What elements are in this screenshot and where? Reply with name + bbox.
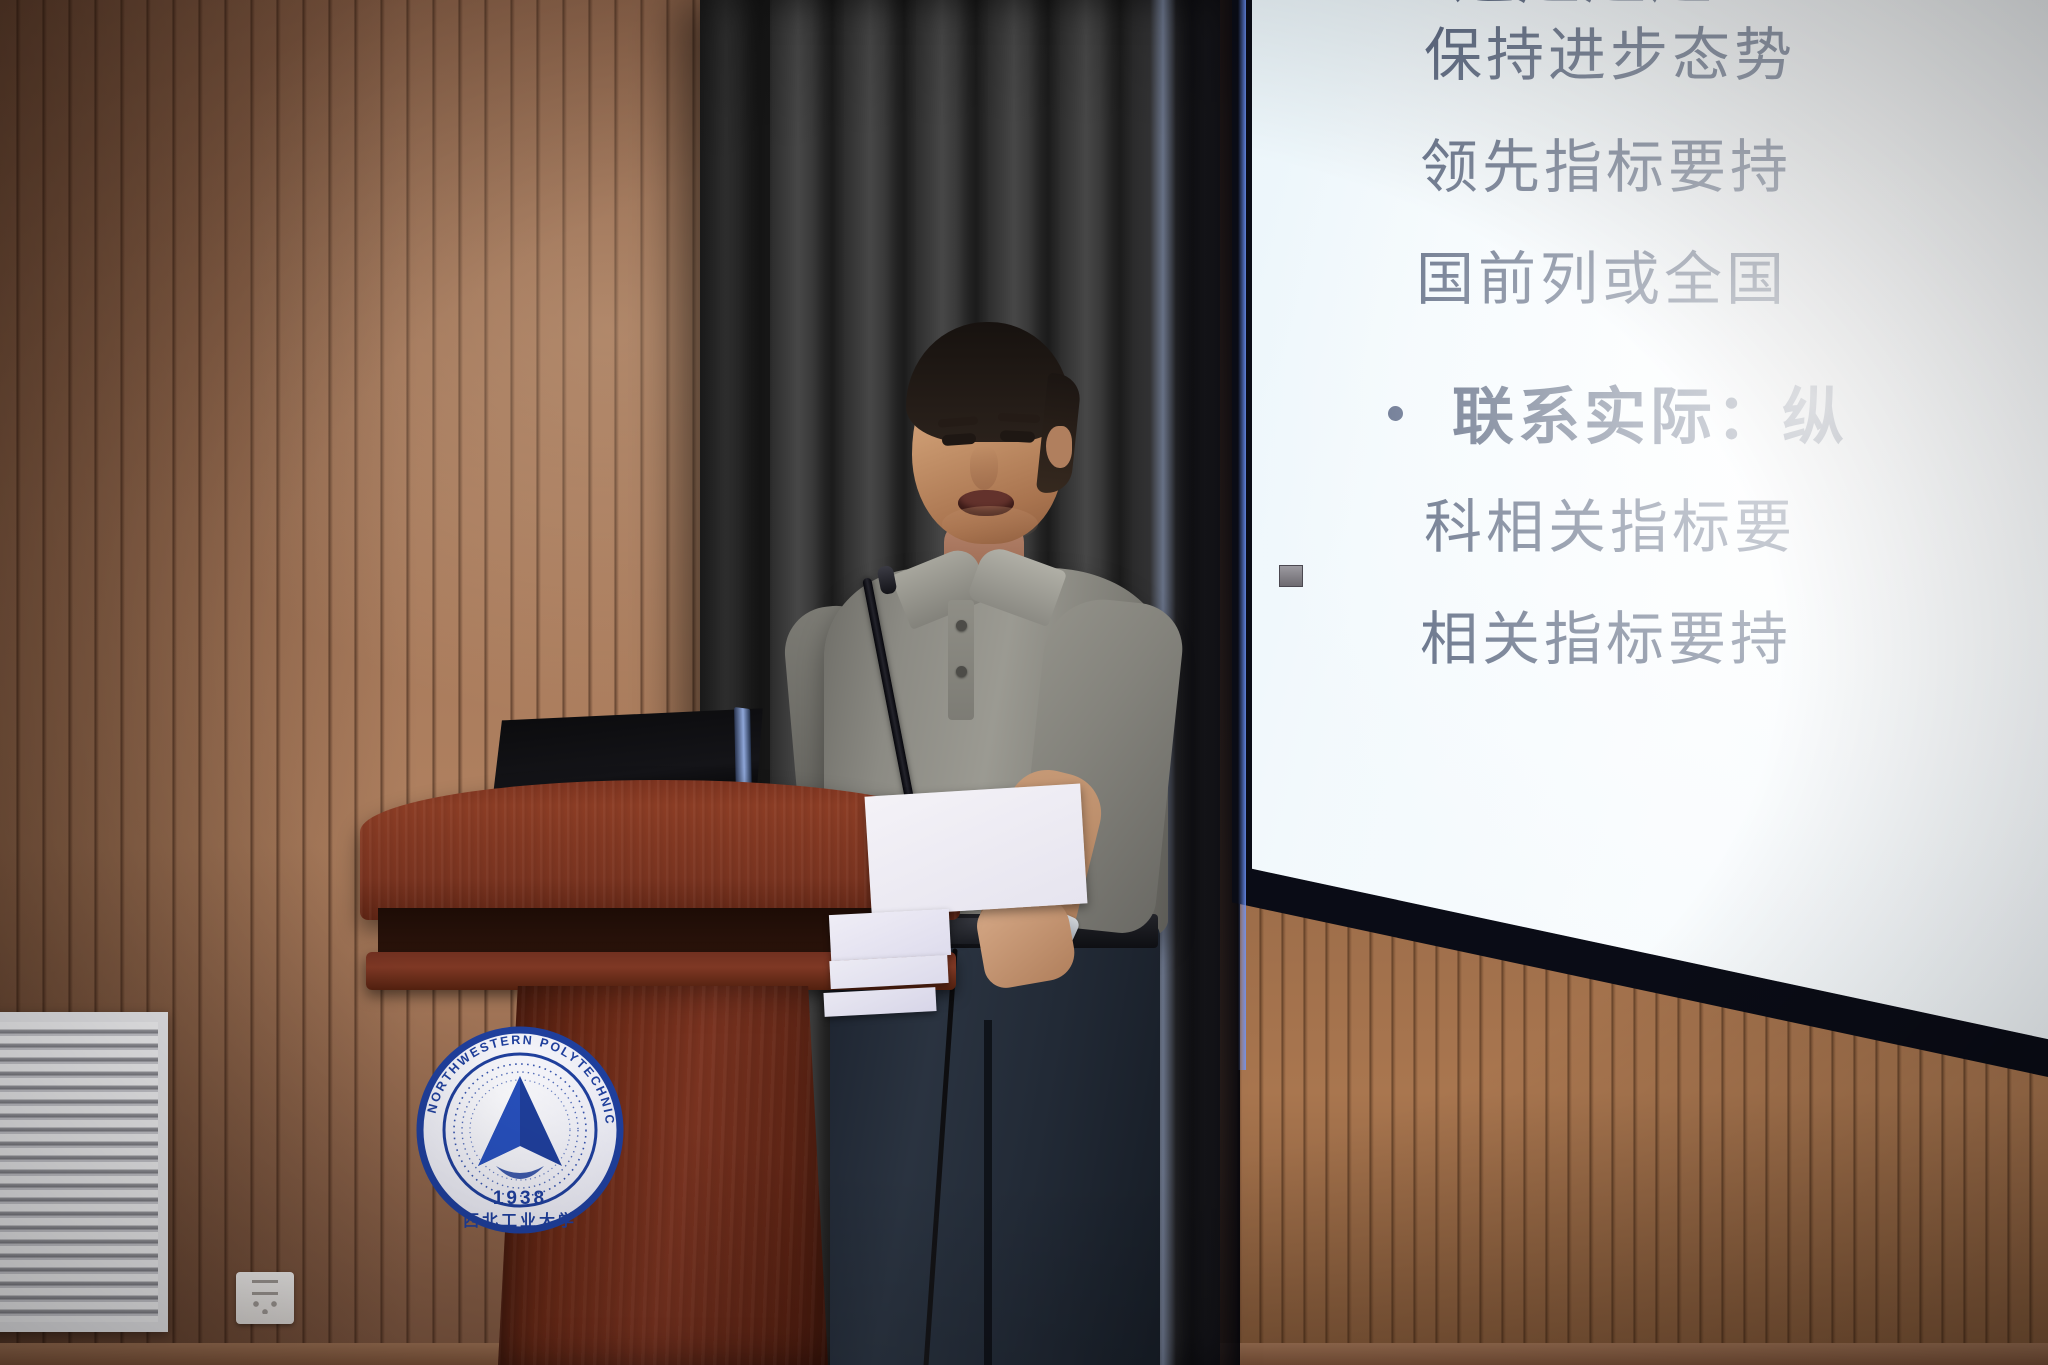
handout-page-top <box>865 784 1088 917</box>
slide-bullet-dot <box>1388 406 1403 421</box>
slide-text-line: 领先指标要持 <box>1420 120 1792 204</box>
speaker-eye-right <box>1000 430 1036 443</box>
slide-text-line: 国前列或全国 <box>1416 232 1788 316</box>
projection-screen: 追赶超越保持进步态势领先指标要持国前列或全国联系实际：纵科相关指标要相关指标要持 <box>1252 0 2048 1040</box>
slide-text-line: 保持进步态势 <box>1424 8 1796 92</box>
speaker-nose <box>970 446 998 490</box>
speaker-chin <box>942 506 1038 542</box>
trouser-leg-seam <box>984 1020 992 1365</box>
louvered-air-vent <box>0 1012 168 1332</box>
presentation-photo-stage: 追赶超越保持进步态势领先指标要持国前列或全国联系实际：纵科相关指标要相关指标要持 <box>0 0 2048 1365</box>
slide-text-line: 相关指标要持 <box>1420 592 1792 676</box>
outlet-two-prong-slot <box>252 1280 278 1295</box>
polo-placket <box>948 600 974 720</box>
vent-louvers <box>0 1022 158 1322</box>
wall-control-plate-icon[interactable] <box>1279 565 1303 587</box>
emblem-year: 1938 <box>493 1188 547 1209</box>
polo-button-lower <box>956 666 967 677</box>
wall-power-outlet[interactable] <box>236 1272 294 1324</box>
university-emblem: NORTHWESTERN POLYTECHNICAL UNIVERSITY 19… <box>410 1020 630 1240</box>
projection-screen-frame-highlight <box>1238 0 1246 1070</box>
polo-button-upper <box>956 620 967 631</box>
slide-text-line: 科相关指标要 <box>1424 480 1796 564</box>
handout-page-2 <box>829 909 951 961</box>
slide-text-line: 联系实际：纵 <box>1452 366 1848 456</box>
presentation-slide: 追赶超越保持进步态势领先指标要持国前列或全国联系实际：纵科相关指标要相关指标要持 <box>1252 0 2048 1040</box>
outlet-three-prong-slot <box>250 1300 280 1314</box>
emblem-chinese-name: 西北工业大学 <box>463 1211 577 1230</box>
speaker-ear <box>1046 426 1072 468</box>
speaker-eye-left <box>942 433 977 446</box>
